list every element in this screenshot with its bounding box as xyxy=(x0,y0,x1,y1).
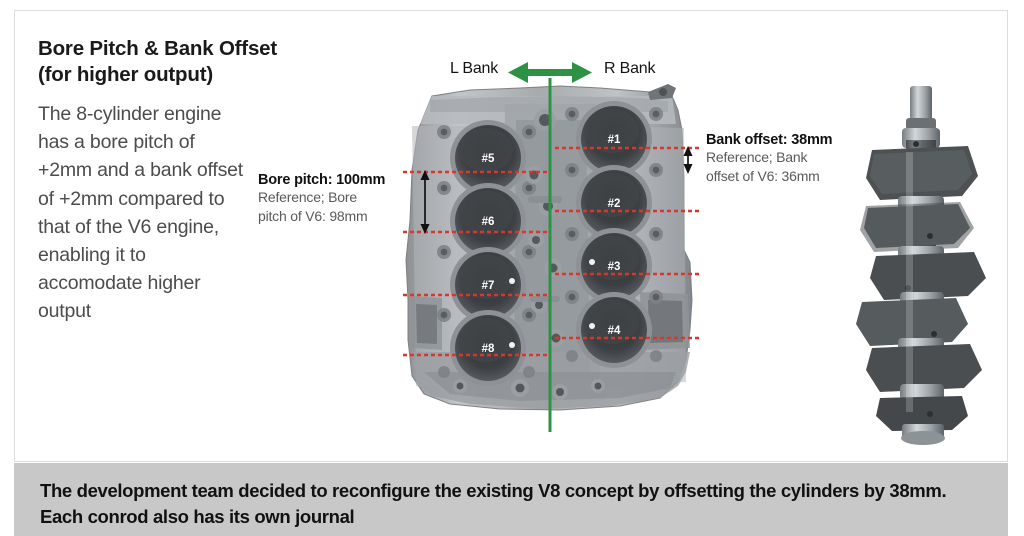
bank-label-right: R Bank xyxy=(604,60,655,78)
cylinder-label-7: #7 xyxy=(482,280,495,292)
bore-pitch-annotation: Bore pitch: 100mm Reference; Bore pitch … xyxy=(258,172,408,225)
cylinder-label-8: #8 xyxy=(482,343,495,355)
caption-text: The development team decided to reconfig… xyxy=(40,478,988,530)
bank-offset-reference-line2: offset of V6: 36mm xyxy=(706,167,866,186)
bank-offset-dimension-arrow xyxy=(684,146,693,174)
cylinder-label-6: #6 xyxy=(482,216,495,228)
crankshaft-image xyxy=(856,86,986,445)
cylinder-label-4: #4 xyxy=(608,325,621,337)
bank-label-left: L Bank xyxy=(450,60,498,78)
engine-diagram: #5 #6 #7 #8 #1 #2 #3 #4 xyxy=(0,0,1024,462)
bank-offset-reference-line1: Reference; Bank xyxy=(706,148,866,167)
cylinder-label-2: #2 xyxy=(608,198,621,210)
bank-offset-title: Bank offset: 38mm xyxy=(706,132,866,148)
bore-pitch-reference-line2: pitch of V6: 98mm xyxy=(258,207,408,226)
bore-pitch-reference-line1: Reference; Bore xyxy=(258,188,408,207)
bore-pitch-title: Bore pitch: 100mm xyxy=(258,172,408,188)
caption-bar: The development team decided to reconfig… xyxy=(14,463,1008,536)
cylinder-label-5: #5 xyxy=(482,153,495,165)
cylinder-label-3: #3 xyxy=(608,261,621,273)
bank-offset-annotation: Bank offset: 38mm Reference; Bank offset… xyxy=(706,132,866,185)
diagram-svg: #5 #6 #7 #8 #1 #2 #3 #4 xyxy=(0,0,1024,462)
cylinder-label-1: #1 xyxy=(608,134,621,146)
slide: Bore Pitch & Bank Offset (for higher out… xyxy=(0,0,1024,536)
